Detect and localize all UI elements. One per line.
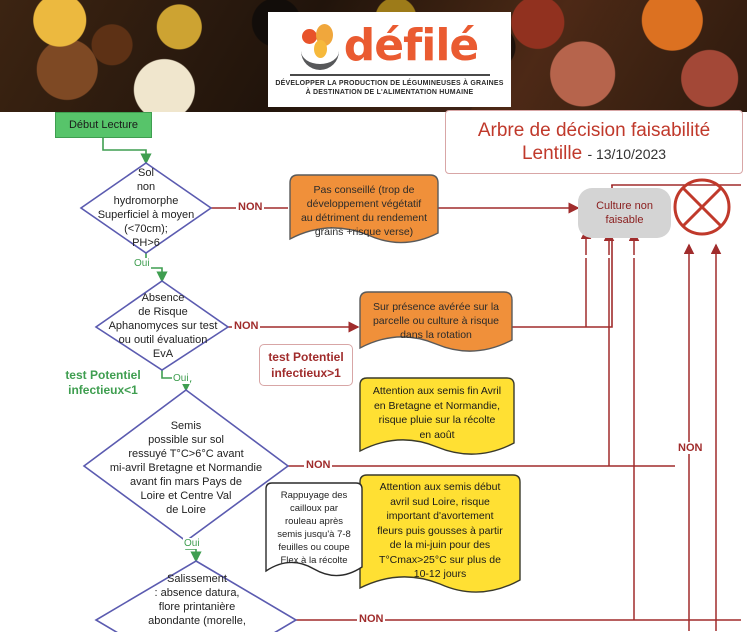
yellow-1-line-4: en août	[419, 428, 454, 443]
decision-3-line-3: ressuyé T°C>6°C avant	[128, 447, 243, 461]
yellow-2-line-4: fleurs puis gousses à partir	[377, 524, 502, 539]
decision-3-line-2: possible sur sol	[148, 433, 224, 447]
yellow-1-line-1: Attention aux semis fin Avril	[373, 384, 501, 399]
test-box-line-1: test Potentiel	[268, 349, 343, 365]
yellow-2-line-2: avril sud Loire, risque	[390, 495, 490, 510]
callout-yellow-1: Attention aux semis fin Avril en Bretagn…	[358, 384, 516, 442]
orange-1-line-1: Pas conseillé (trop de	[314, 183, 415, 197]
callout-orange-2: Sur présence avérée sur la parcelle ou c…	[358, 298, 514, 344]
decision-1-line-4: Superficiel à moyen	[98, 208, 195, 222]
edge-label-non-3: NON	[304, 459, 332, 471]
decision-2-line-1: Absence	[142, 291, 185, 305]
yellow-2-line-5: de la mi-juin pour des	[390, 538, 490, 553]
decision-4-line-1: Salissement	[167, 572, 227, 586]
yellow-1-line-2: en Bretagne et Normandie,	[374, 399, 500, 414]
white-line-4: semis jusqu'à 7-8	[277, 528, 351, 541]
decision-1-line-1: Sol	[138, 166, 154, 180]
decision-1-line-5: (<70cm);	[124, 222, 168, 236]
result-culture-non-faisable: Culture non faisable	[578, 188, 671, 238]
test-box-line-2: infectieux>1	[271, 365, 341, 381]
orange-1-line-4: grains +risque verse)	[315, 225, 413, 239]
edge-label-non-1: NON	[236, 201, 264, 213]
yellow-1-line-3: risque pluie sur la récolte	[379, 413, 496, 428]
decision-3-line-4: mi-avril Bretagne et Normandie	[110, 461, 262, 475]
start-node[interactable]: Début Lecture	[55, 112, 152, 138]
decision-node-2[interactable]: Absence de Risque Aphanomyces sur test o…	[92, 283, 234, 369]
decision-3-line-7: de Loire	[166, 503, 206, 517]
decision-2-line-2: de Risque	[138, 305, 188, 319]
decision-3-line-6: Loire et Centre Val	[141, 489, 232, 503]
decision-4-line-4: abondante (morelle,	[148, 614, 246, 628]
green-note-line-2: infectieux<1	[48, 383, 158, 398]
decision-1-line-2: non	[137, 180, 155, 194]
callout-white: Rappuyage des cailloux par rouleau après…	[266, 489, 362, 567]
white-line-6: Flex à la récolte	[280, 554, 347, 567]
decision-1-line-6: PH>6	[132, 236, 160, 250]
yellow-2-line-7: 10-12 jours	[414, 567, 467, 582]
edge-label-oui-1: Oui	[133, 258, 151, 269]
decision-4-line-3: flore printanière	[159, 600, 235, 614]
callout-orange-1: Pas conseillé (trop de développement vég…	[288, 182, 440, 240]
callout-yellow-2: Attention aux semis début avril sud Loir…	[358, 481, 522, 581]
decision-3-line-5: avant fin mars Pays de	[130, 475, 242, 489]
yellow-2-line-1: Attention aux semis début	[380, 480, 501, 495]
edge-label-non-4: NON	[357, 613, 385, 625]
white-line-3: rouleau après	[285, 515, 343, 528]
decision-node-1[interactable]: Sol non hydromorphe Superficiel à moyen …	[86, 163, 206, 253]
test-potentiel-infectieux-box: test Potentiel infectieux>1	[259, 344, 353, 386]
green-note-line-1: test Potentiel	[48, 368, 158, 383]
white-line-2: cailloux par	[290, 502, 338, 515]
orange-1-line-2: développement végétatif	[307, 197, 421, 211]
yellow-2-line-6: T°Cmax>25°C sur plus de	[379, 553, 501, 568]
result-line-1: Culture non	[596, 199, 653, 213]
decision-node-3[interactable]: Semis possible sur sol ressuyé T°C>6°C a…	[78, 418, 294, 518]
edge-label-non-2: NON	[232, 320, 260, 332]
white-line-5: feuilles ou coupe	[278, 541, 349, 554]
decision-4-line-2: : absence datura,	[154, 586, 239, 600]
decision-3-line-1: Semis	[171, 419, 202, 433]
orange-2-line-1: Sur présence avérée sur la	[373, 300, 499, 314]
note-test-potentiel-infectieux-inf1: test Potentiel infectieux<1	[48, 368, 158, 398]
decision-1-line-3: hydromorphe	[114, 194, 179, 208]
edge-label-oui-3: Oui	[183, 538, 201, 549]
decision-2-line-5: EvA	[153, 347, 173, 361]
orange-1-line-3: au détriment du rendement	[301, 211, 427, 225]
decision-2-line-4: ou outil évaluation	[119, 333, 208, 347]
yellow-2-line-3: important d'avortement	[386, 509, 493, 524]
edge-label-non-right: NON	[676, 442, 704, 454]
orange-2-line-3: dans la rotation	[400, 328, 472, 342]
decision-node-4[interactable]: Salissement : absence datura, flore prin…	[118, 572, 276, 632]
white-line-1: Rappuyage des	[281, 489, 348, 502]
decision-2-line-3: Aphanomyces sur test	[109, 319, 218, 333]
edge-label-oui-2: Oui	[172, 373, 190, 384]
orange-2-line-2: parcelle ou culture à risque	[373, 314, 499, 328]
result-line-2: faisable	[606, 213, 644, 227]
